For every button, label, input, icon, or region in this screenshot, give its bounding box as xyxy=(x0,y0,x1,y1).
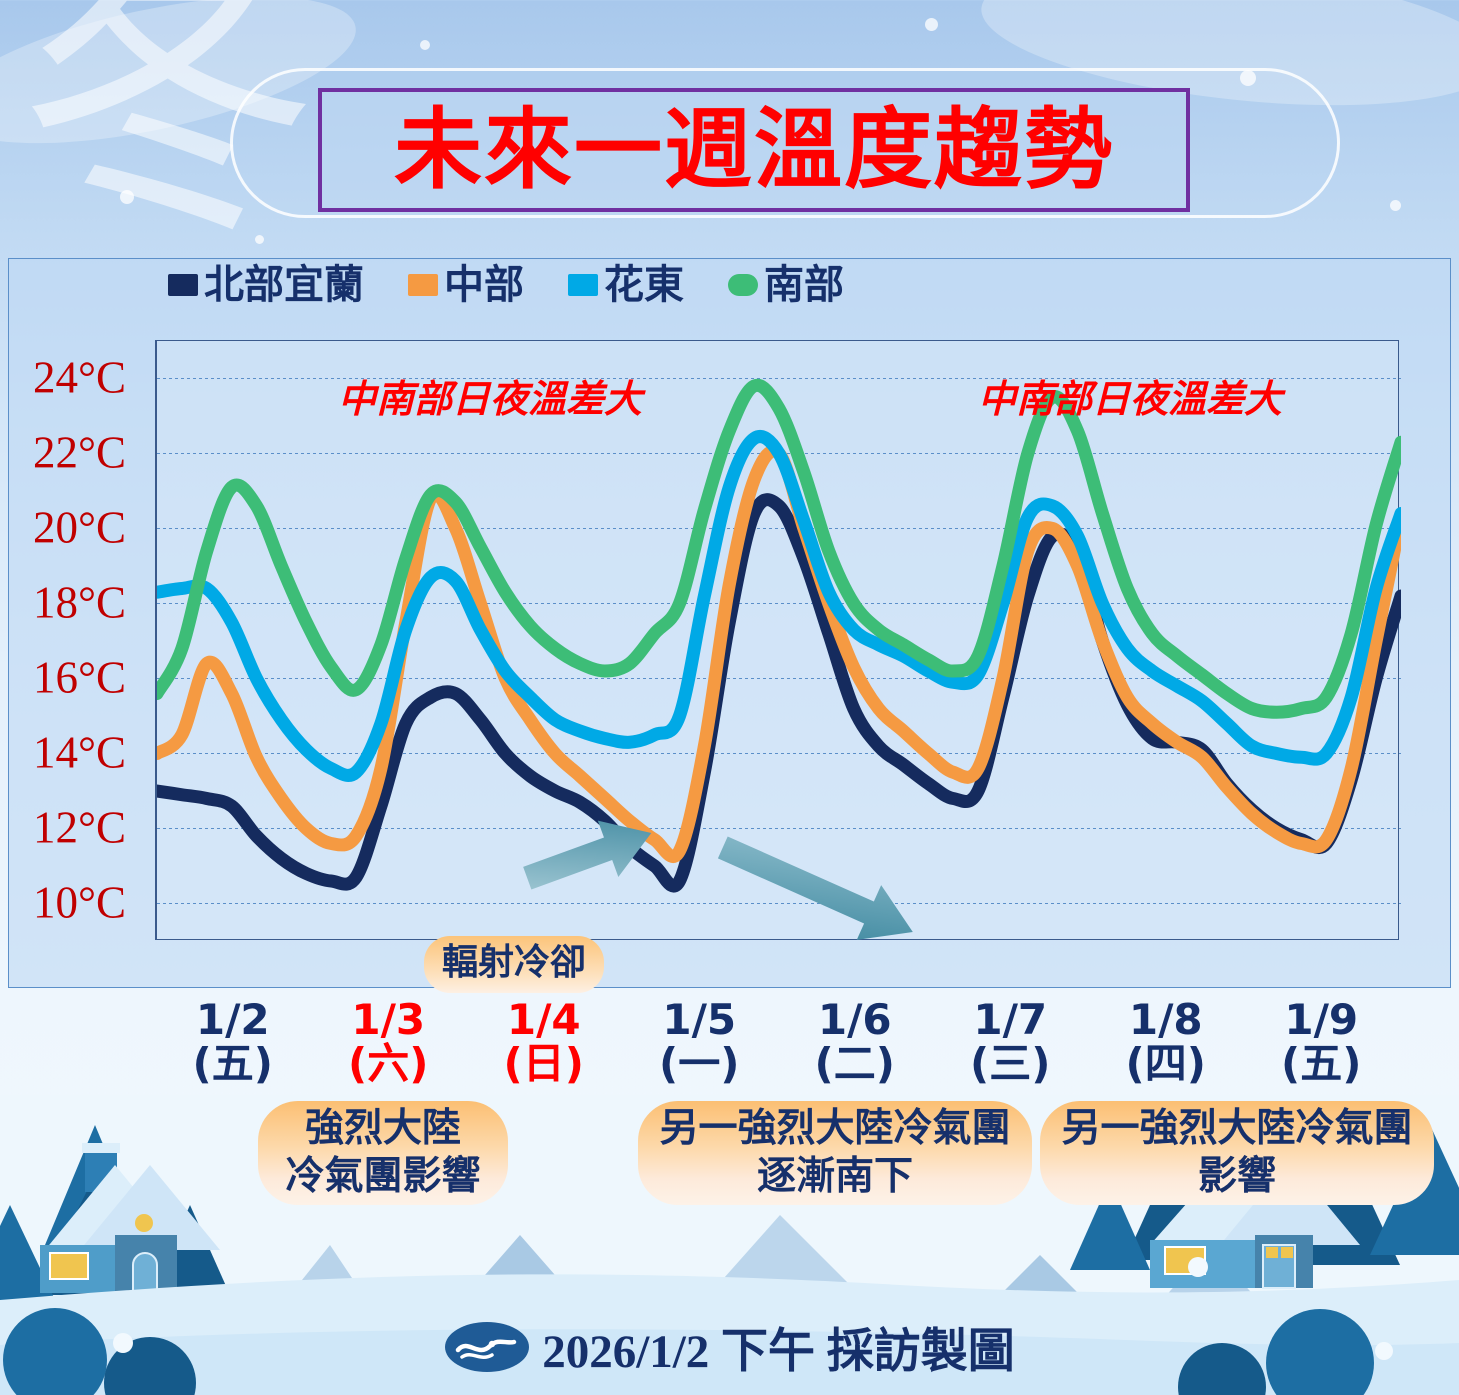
radiation-cooling-badge: 輻射冷卻 xyxy=(424,936,604,993)
legend-item-north-yilan[interactable]: 北部宜蘭 xyxy=(168,265,364,305)
callout-line-1: 強烈大陸 xyxy=(305,1106,461,1151)
temperature-line-3 xyxy=(157,385,1401,712)
page-title-box: 未來一週溫度趨勢 xyxy=(318,88,1190,212)
x-tick-weekday: (五) xyxy=(1246,1042,1396,1086)
callout-line-2: 逐漸南下 xyxy=(757,1154,913,1199)
callout-line-1: 另一強烈大陸冷氣團 xyxy=(659,1106,1010,1151)
cloud-decoration xyxy=(0,0,368,172)
x-tick-weekday: (四) xyxy=(1091,1042,1241,1086)
legend-swatch-icon xyxy=(408,274,438,296)
house-roof xyxy=(45,1165,185,1250)
x-tick-weekday: (三) xyxy=(935,1042,1085,1086)
house-window xyxy=(50,1253,88,1279)
x-tick-date: 1/9 xyxy=(1246,998,1396,1042)
house-body xyxy=(1150,1240,1278,1288)
snow-dot xyxy=(925,18,938,31)
pine-tree xyxy=(150,1205,230,1295)
pine-tree xyxy=(35,1175,155,1295)
weather-bureau-logo-icon xyxy=(444,1320,530,1374)
y-axis-tick-label: 12°C xyxy=(33,805,126,850)
house-body xyxy=(40,1245,170,1293)
legend-swatch-icon xyxy=(728,274,758,296)
house-door-window xyxy=(1281,1247,1293,1258)
x-axis-tick-1-9: 1/9(五) xyxy=(1246,998,1396,1086)
x-axis-tick-1-8: 1/8(四) xyxy=(1091,998,1241,1086)
y-axis-tick-label: 10°C xyxy=(33,880,126,925)
winter-character-watermark: 冬 xyxy=(18,0,318,252)
y-axis-tick-label: 14°C xyxy=(33,730,126,775)
y-axis-labels: 24°C22°C20°C18°C16°C14°C12°C10°C xyxy=(8,340,148,940)
legend-label: 中部 xyxy=(444,265,524,305)
x-tick-date: 1/2 xyxy=(158,998,308,1042)
x-tick-date: 1/6 xyxy=(780,998,930,1042)
chart-legend: 北部宜蘭 中部 花東 南部 xyxy=(168,265,844,305)
y-axis-tick-label: 16°C xyxy=(33,655,126,700)
x-tick-date: 1/7 xyxy=(935,998,1085,1042)
legend-label: 花東 xyxy=(604,265,684,305)
legend-item-south[interactable]: 南部 xyxy=(728,265,844,305)
temperature-lines-svg xyxy=(157,341,1401,941)
snow-dot xyxy=(255,235,264,244)
x-axis-tick-1-4: 1/4(日) xyxy=(469,998,619,1086)
x-axis-tick-1-6: 1/6(二) xyxy=(780,998,930,1086)
snow-dot xyxy=(1240,70,1256,86)
snow-dot xyxy=(120,190,134,204)
snow-ball xyxy=(1188,1257,1208,1277)
x-tick-weekday: (一) xyxy=(624,1042,774,1086)
footer-timestamp: 2026/1/2 下午 採訪製圖 xyxy=(542,1312,1015,1381)
y-axis-tick-label: 18°C xyxy=(33,580,126,625)
legend-label: 南部 xyxy=(764,265,844,305)
x-tick-date: 1/3 xyxy=(313,998,463,1042)
callout-cold-surge-3: 另一強烈大陸冷氣團 影響 xyxy=(1040,1101,1434,1205)
x-axis-tick-1-5: 1/5(一) xyxy=(624,998,774,1086)
chart-plot-area xyxy=(155,340,1399,940)
annotation-diurnal-range-left: 中南部日夜溫差大 xyxy=(338,368,642,423)
house-body xyxy=(1255,1235,1313,1288)
x-tick-weekday: (五) xyxy=(158,1042,308,1086)
legend-swatch-icon xyxy=(168,274,198,296)
house-body xyxy=(115,1235,177,1293)
snow-dot xyxy=(1390,200,1401,211)
house-door xyxy=(133,1253,157,1293)
house-chimney xyxy=(85,1147,117,1192)
x-tick-date: 1/4 xyxy=(469,998,619,1042)
x-tick-date: 1/8 xyxy=(1091,998,1241,1042)
callout-line-2: 冷氣團影響 xyxy=(285,1154,480,1199)
snow-dot xyxy=(420,40,430,50)
house-chimney-snow xyxy=(82,1143,120,1153)
house-door-window xyxy=(1266,1247,1278,1258)
footer: 2026/1/2 下午 採訪製圖 xyxy=(0,1312,1459,1381)
callout-line-2: 影響 xyxy=(1198,1154,1276,1199)
legend-item-hualien-taitung[interactable]: 花東 xyxy=(568,265,684,305)
callout-cold-surge-1: 強烈大陸 冷氣團影響 xyxy=(258,1101,508,1205)
callout-line-1: 另一強烈大陸冷氣團 xyxy=(1061,1106,1412,1151)
house-roof xyxy=(80,1165,220,1250)
pine-tree xyxy=(45,1125,145,1245)
callout-cold-surge-2: 另一強烈大陸冷氣團 逐漸南下 xyxy=(638,1101,1032,1205)
x-tick-weekday: (日) xyxy=(469,1042,619,1086)
legend-swatch-icon xyxy=(568,274,598,296)
x-tick-date: 1/5 xyxy=(624,998,774,1042)
x-tick-weekday: (二) xyxy=(780,1042,930,1086)
x-axis-tick-1-7: 1/7(三) xyxy=(935,998,1085,1086)
house-window xyxy=(1165,1247,1205,1274)
house-door xyxy=(1263,1245,1295,1288)
legend-label: 北部宜蘭 xyxy=(204,265,364,305)
x-axis-tick-1-2: 1/2(五) xyxy=(158,998,308,1086)
temperature-line-2 xyxy=(157,437,1401,776)
annotation-diurnal-range-right: 中南部日夜溫差大 xyxy=(978,368,1282,423)
y-axis-tick-label: 22°C xyxy=(33,430,126,475)
pine-tree xyxy=(0,1205,60,1310)
y-axis-tick-label: 24°C xyxy=(33,355,126,400)
x-tick-weekday: (六) xyxy=(313,1042,463,1086)
page-title: 未來一週溫度趨勢 xyxy=(394,106,1114,194)
y-axis-tick-label: 20°C xyxy=(33,505,126,550)
x-axis-tick-1-3: 1/3(六) xyxy=(313,998,463,1086)
legend-item-central[interactable]: 中部 xyxy=(408,265,524,305)
house-window-round xyxy=(135,1214,153,1232)
x-axis-labels: 1/2(五)1/3(六)1/4(日)1/5(一)1/6(二)1/7(三)1/8(… xyxy=(155,998,1399,1094)
